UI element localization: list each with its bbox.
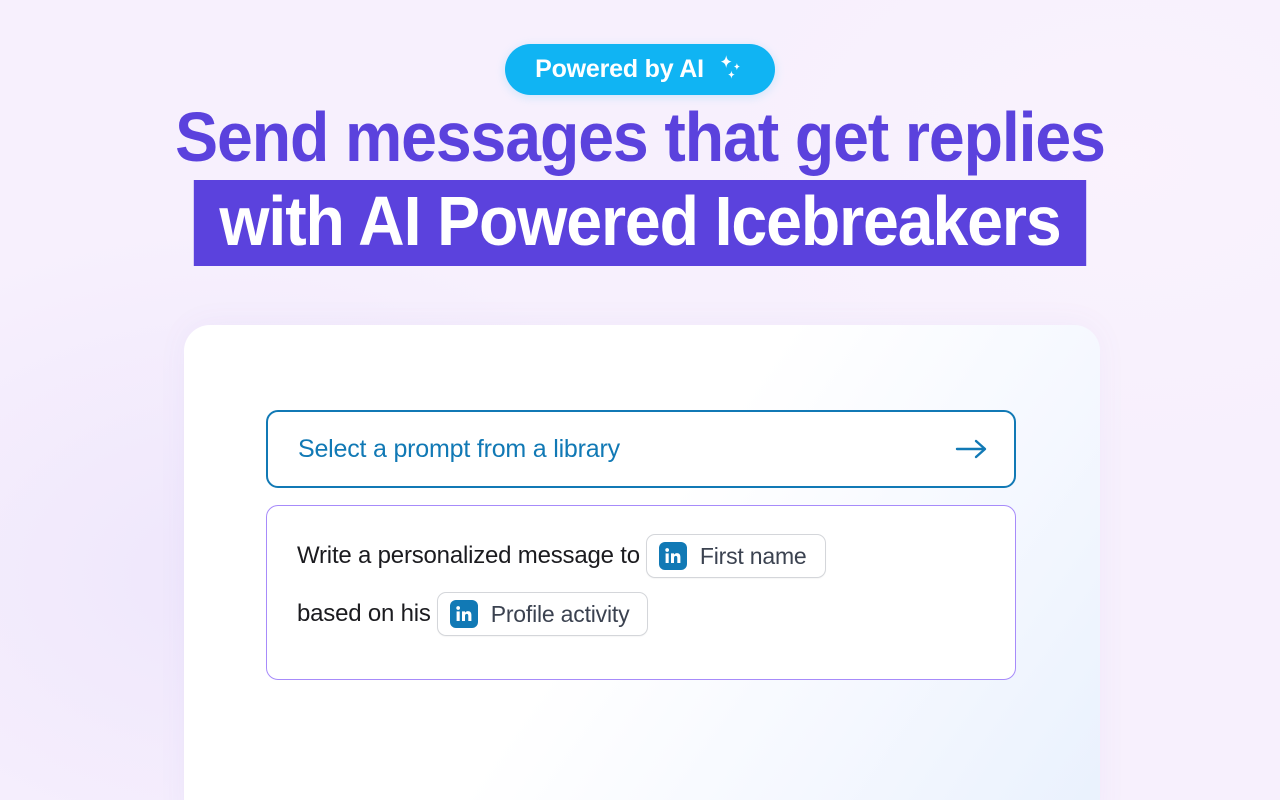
prompt-line-1-text: Write a personalized message to bbox=[297, 539, 640, 573]
headline-line-1: Send messages that get replies bbox=[51, 100, 1229, 174]
token-profile-activity-label: Profile activity bbox=[491, 603, 630, 626]
prompt-line-2: based on his Profile activity bbox=[297, 592, 985, 636]
token-profile-activity[interactable]: Profile activity bbox=[437, 592, 649, 636]
powered-by-ai-badge: Powered by AI bbox=[505, 44, 775, 95]
token-first-name-label: First name bbox=[700, 545, 807, 568]
badge-label: Powered by AI bbox=[535, 57, 704, 82]
prompt-line-2-text: based on his bbox=[297, 597, 431, 631]
headline-highlight: with AI Powered Icebreakers bbox=[194, 180, 1087, 266]
linkedin-icon bbox=[450, 600, 478, 628]
arrow-right-icon[interactable] bbox=[954, 436, 990, 462]
prompt-line-1: Write a personalized message to First na… bbox=[297, 534, 985, 578]
landing-hero-page: Powered by AI Send messages that get rep… bbox=[0, 0, 1280, 800]
badge-row: Powered by AI bbox=[0, 44, 1280, 95]
token-first-name[interactable]: First name bbox=[646, 534, 826, 578]
product-screenshot-card: Select a prompt from a library Write a p… bbox=[184, 325, 1100, 800]
prompt-composer[interactable]: Write a personalized message to First na… bbox=[266, 505, 1016, 680]
headline-line-2: with AI Powered Icebreakers bbox=[51, 180, 1229, 266]
page-title: Send messages that get replies with AI P… bbox=[51, 100, 1229, 266]
prompt-library-select[interactable]: Select a prompt from a library bbox=[266, 410, 1016, 488]
linkedin-icon bbox=[659, 542, 687, 570]
prompt-library-select-label: Select a prompt from a library bbox=[298, 435, 954, 464]
sparkles-icon bbox=[717, 54, 745, 82]
